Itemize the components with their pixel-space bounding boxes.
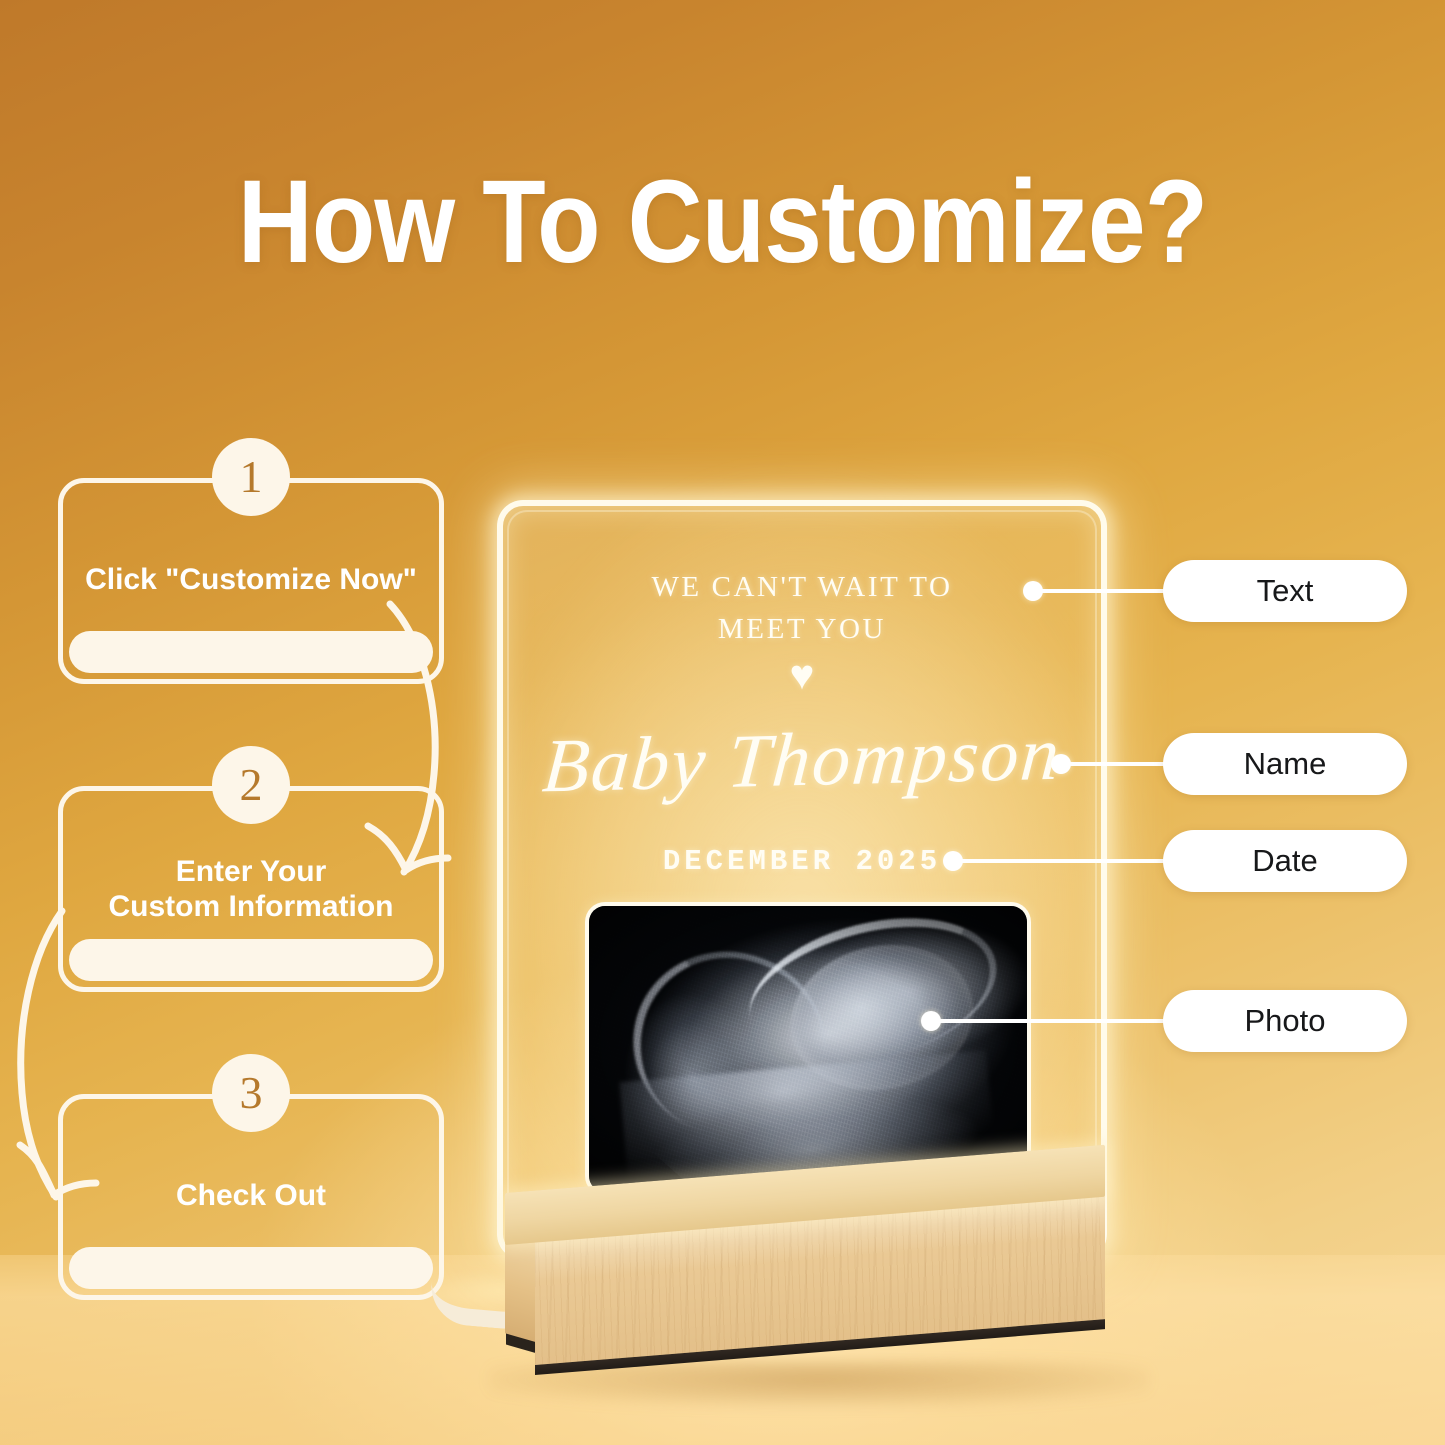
infographic-scene: How To Customize? 1 Click "Customize Now…: [0, 0, 1445, 1445]
step-3-number-badge: 3: [212, 1054, 290, 1132]
callout-pill-name[interactable]: Name: [1163, 733, 1407, 795]
page-title: How To Customize?: [87, 163, 1359, 281]
ultrasound-vignette: [589, 906, 1027, 1192]
plaque-panel: WE CAN'T WAIT TO MEET YOU ♥ Baby Thompso…: [497, 500, 1107, 1260]
step-3-label: Check Out: [76, 1178, 426, 1213]
acrylic-plaque: WE CAN'T WAIT TO MEET YOU ♥ Baby Thompso…: [497, 500, 1107, 1260]
callout-pill-date[interactable]: Date: [1163, 830, 1407, 892]
ultrasound-photo: [589, 906, 1027, 1192]
plaque-name: Baby Thompson: [497, 714, 1107, 805]
step-card-2: 2 Enter Your Custom Information: [58, 786, 444, 992]
callout-leader-photo: [925, 1019, 1167, 1023]
callout-leader-name: [1055, 762, 1167, 766]
step-2-bottom-bar: [69, 939, 433, 981]
callout-pill-photo[interactable]: Photo: [1163, 990, 1407, 1052]
callout-pill-text[interactable]: Text: [1163, 560, 1407, 622]
callout-leader-date: [947, 859, 1167, 863]
wooden-led-base: [449, 1193, 1149, 1393]
plaque-headline: WE CAN'T WAIT TO MEET YOU: [497, 566, 1107, 650]
step-1-number-badge: 1: [212, 438, 290, 516]
step-1-bottom-bar: [69, 631, 433, 673]
step-1-label: Click "Customize Now": [76, 562, 426, 597]
heart-icon: ♥: [497, 654, 1107, 696]
callout-leader-text: [1027, 589, 1167, 593]
step-2-label: Enter Your Custom Information: [76, 854, 426, 925]
step-2-number-badge: 2: [212, 746, 290, 824]
step-card-1: 1 Click "Customize Now": [58, 478, 444, 684]
step-3-bottom-bar: [69, 1247, 433, 1289]
step-card-3: 3 Check Out: [58, 1094, 444, 1300]
